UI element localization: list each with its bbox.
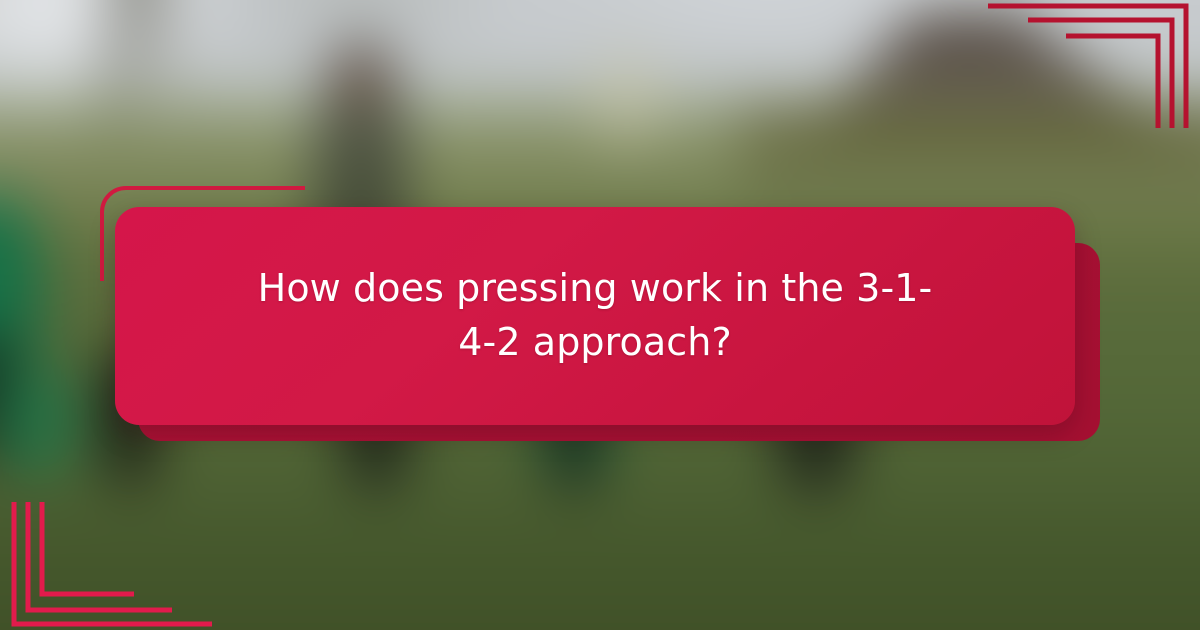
background-foreground-grass [0, 472, 1200, 630]
question-card-content: How does pressing work in the 3-1-4-2 ap… [115, 207, 1075, 425]
background-figure-head [332, 53, 390, 111]
question-card-canvas: How does pressing work in the 3-1-4-2 ap… [0, 0, 1200, 630]
question-title: How does pressing work in the 3-1-4-2 ap… [245, 262, 945, 370]
background-foliage-patch [589, 50, 665, 147]
